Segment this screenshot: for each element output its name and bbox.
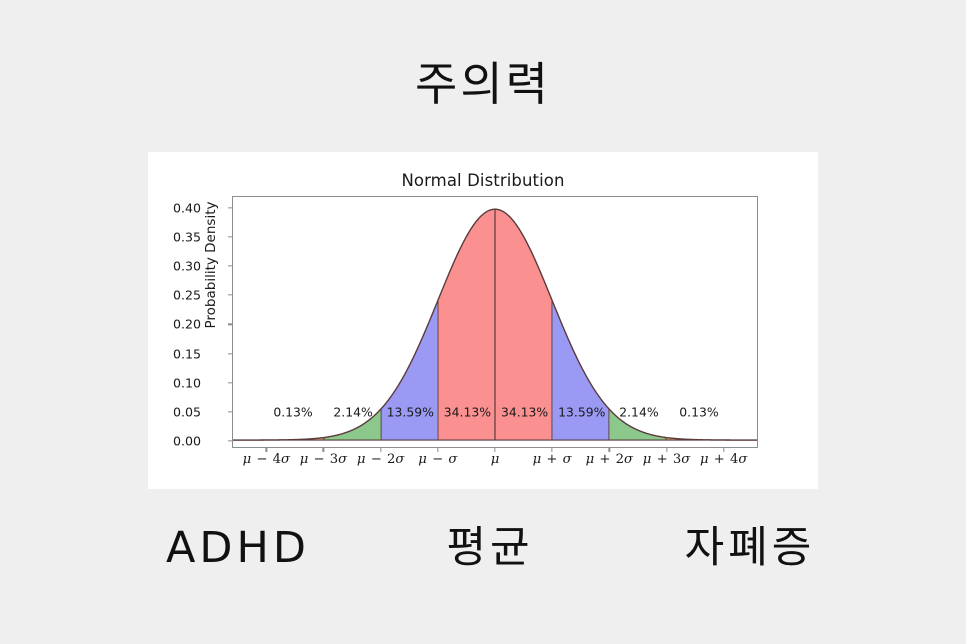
caption-autism: 자폐증	[630, 518, 870, 578]
x-tick-mark	[266, 448, 267, 452]
distribution-band	[438, 209, 495, 440]
distribution-curve-svg	[233, 197, 757, 447]
x-tick-label: μ + 4σ	[679, 452, 769, 467]
y-tick-label: 0.30	[157, 259, 201, 274]
chart-card: Normal Distribution Probability Density …	[148, 152, 818, 489]
caption-average: 평균	[390, 518, 590, 578]
slide-canvas: 주의력 Normal Distribution Probability Dens…	[0, 0, 966, 644]
y-tick-label: 0.20	[157, 317, 201, 332]
curve-outline	[233, 209, 757, 440]
x-tick-mark	[494, 448, 495, 452]
caption-adhd: ADHD	[118, 518, 358, 578]
normal-distribution-figure: Normal Distribution Probability Density …	[148, 152, 818, 489]
x-tick-mark	[552, 448, 553, 452]
y-tick-label: 0.40	[157, 200, 201, 215]
y-tick-label: 0.25	[157, 288, 201, 303]
y-tick-label: 0.15	[157, 346, 201, 361]
x-tick-mark	[437, 448, 438, 452]
y-tick-label: 0.10	[157, 375, 201, 390]
chart-title: Normal Distribution	[148, 171, 818, 190]
y-tick-label: 0.05	[157, 404, 201, 419]
x-tick-mark	[609, 448, 610, 452]
y-tick-label: 0.00	[157, 434, 201, 449]
y-tick-label: 0.35	[157, 229, 201, 244]
plot-area: 0.13%2.14%13.59%34.13%34.13%13.59%2.14%0…	[232, 196, 758, 448]
distribution-band	[495, 209, 552, 440]
x-tick-mark	[723, 448, 724, 452]
x-tick-mark	[380, 448, 381, 452]
y-axis-label: Probability Density	[203, 170, 219, 360]
page-title: 주의력	[0, 55, 966, 113]
x-tick-mark	[323, 448, 324, 452]
x-tick-mark	[666, 448, 667, 452]
